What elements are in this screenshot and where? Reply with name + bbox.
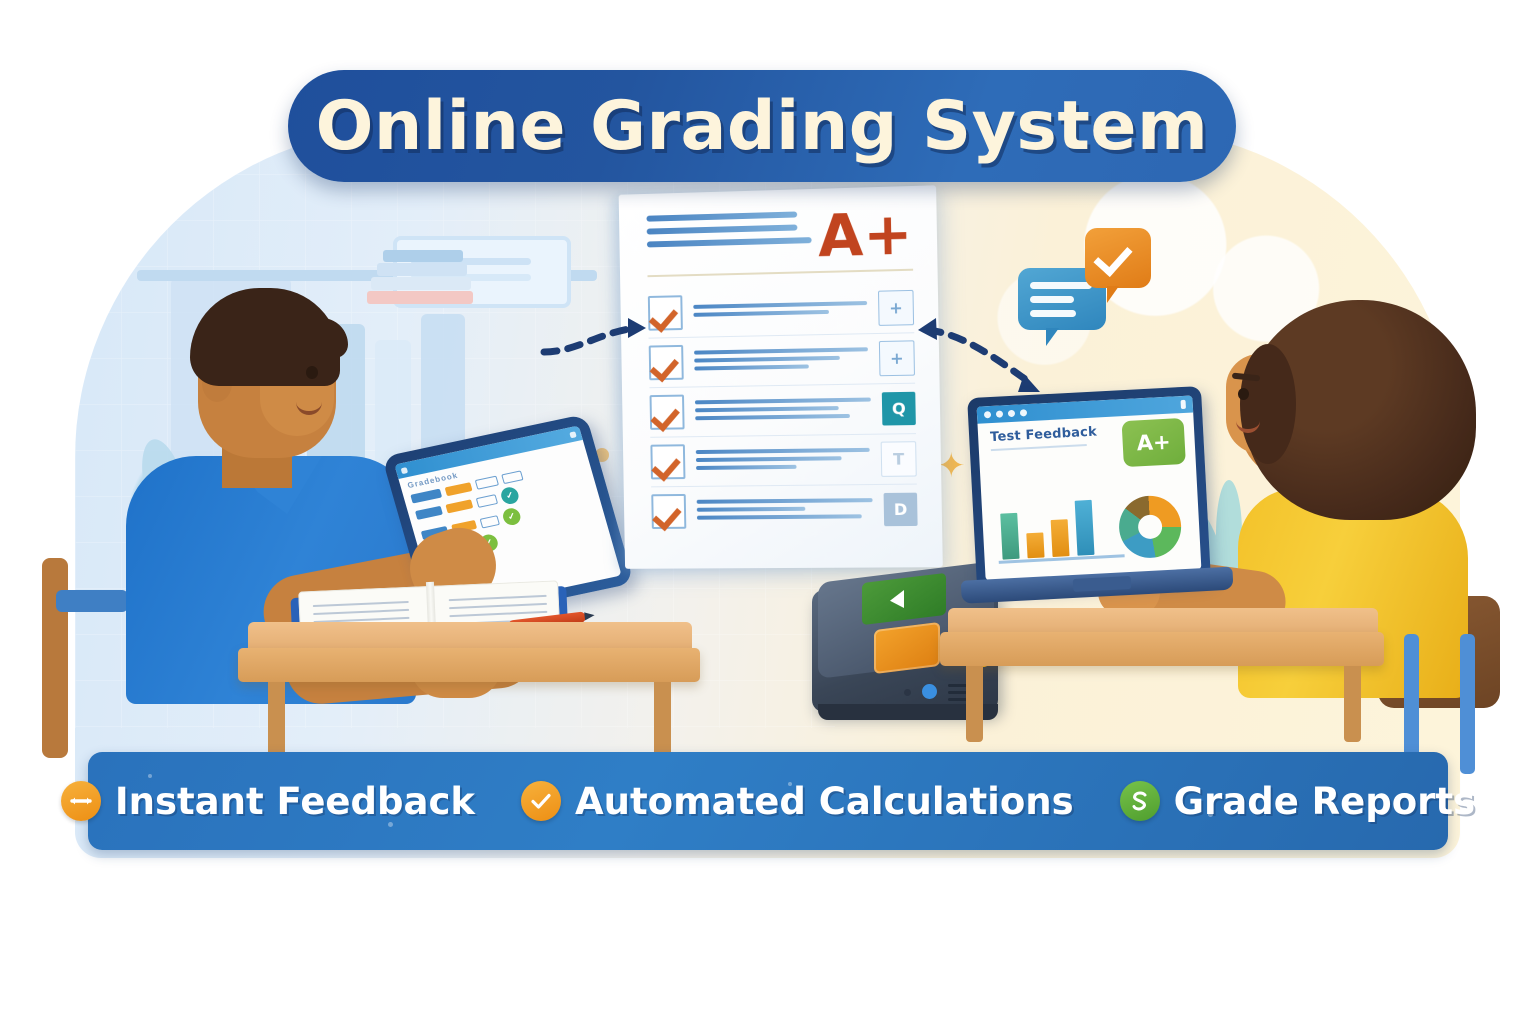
title-banner: Online Grading System [288,70,1236,182]
paper-grade: A+ [818,208,913,261]
question-text-lines [694,347,868,374]
paper-question-row: + [648,283,915,339]
student-desk [940,632,1384,666]
tablet-status-badge: ✓ [499,486,520,506]
row-badge: Q [882,392,916,426]
window-dot [996,410,1003,417]
tablet-status-badge: ✓ [501,507,522,527]
approved-bubble [1085,228,1151,288]
student-hair [1244,300,1476,520]
check-icon [1093,237,1132,277]
title-underline [991,444,1087,451]
laptop-screen[interactable]: Test Feedback A+ [977,395,1202,580]
report-glyph [1130,790,1150,812]
question-text-lines [696,447,870,473]
teacher-desk [238,648,700,682]
scanner-indicator [904,689,911,696]
checkbox-checked-icon [648,295,683,330]
tablet-window-dot [569,431,577,438]
checkbox-checked-icon [650,395,685,430]
tablet-pill [453,541,477,555]
checkbox-checked-icon [649,345,684,380]
desk-leg [654,682,671,756]
tablet-pill [479,515,499,528]
tablet-window-dot [400,467,408,474]
report-icon [1120,781,1160,821]
donut-chart [1118,494,1183,559]
graded-test-paper: A+ + + Q T D [619,185,943,569]
paper-header-lines [646,211,811,254]
features-banner: Instant Feedback Automated Calculations … [88,752,1448,850]
tablet-pill [476,494,498,508]
window-dot [1020,409,1027,416]
row-badge: D [884,493,918,527]
swap-arrows-icon [61,781,101,821]
teacher-eye [306,366,318,379]
window-dot [984,411,991,418]
desk-leg [1344,666,1361,742]
bar-chart [999,480,1115,560]
paper-question-row: D [651,485,918,536]
poster-canvas: ✦ ✦ Gradebook [0,0,1536,1024]
feature-automated-calculations[interactable]: Automated Calculations [521,780,1074,823]
feature-label: Grade Reports [1174,780,1476,823]
checkbox-checked-icon [650,444,685,479]
row-badge: T [881,441,917,477]
page-title: Online Grading System [316,87,1209,166]
feature-label: Automated Calculations [575,780,1074,823]
desk-leg [966,666,983,742]
scanner-scan-area [874,622,940,674]
tablet-score-cell [445,499,473,513]
teacher-chair [42,558,68,758]
paper-divider [647,269,913,277]
paper-question-row: + [649,333,916,388]
student-eye [1238,388,1249,400]
desk-leg [268,682,285,756]
grade-badge: A+ [1122,418,1186,467]
check-icon [521,781,561,821]
paper-question-row: Q [649,384,916,438]
tablet-score-cell [451,520,477,534]
chair-leg [1460,634,1475,774]
paper-question-row: T [650,434,917,487]
question-text-lines [693,301,867,321]
check-glyph [530,792,552,810]
checkbox-checked-icon [651,494,686,529]
row-badge: + [878,290,914,326]
feature-instant-feedback[interactable]: Instant Feedback [61,780,475,823]
feature-grade-reports[interactable]: Grade Reports [1120,780,1476,823]
tablet-name-cell [427,547,451,560]
tablet-name-cell [415,506,443,520]
scanner-power-button[interactable] [922,684,937,699]
window-dot [1008,410,1015,417]
laptop-lid: Test Feedback A+ [967,386,1211,590]
menu-icon[interactable] [1181,400,1186,409]
tablet-name-cell [421,526,449,540]
swap-arrows-glyph [69,794,93,808]
question-text-lines [695,397,871,424]
paper-header: A+ [646,208,912,265]
tablet-status-badge: ✓ [478,533,499,553]
question-text-lines [697,498,873,524]
row-badge: + [879,340,915,376]
laptop-device[interactable]: Test Feedback A+ [967,386,1211,590]
feature-label: Instant Feedback [115,780,475,823]
